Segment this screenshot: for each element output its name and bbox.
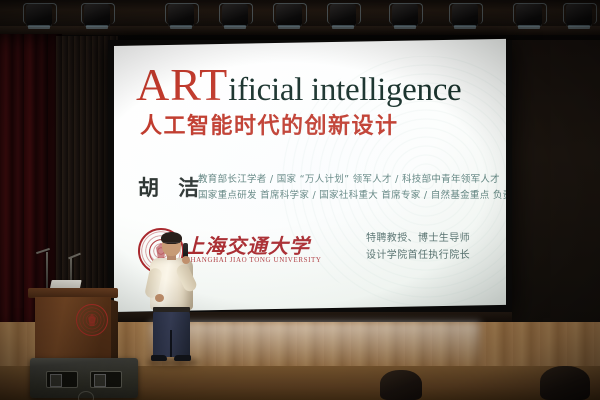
stage-light-icon <box>330 4 356 26</box>
slide-title: ARTificial intelligence <box>136 62 496 108</box>
credential-line: 国家重点研发 首席科学家 / 国家社科重大 首席专家 / 自然基金重点 负责人 <box>198 188 498 204</box>
stage-light-icon <box>26 4 52 26</box>
role-line: 设计学院首任执行院长 <box>366 247 470 264</box>
stage-light-icon <box>168 4 194 26</box>
presenter <box>146 234 198 362</box>
speaker-credentials: 教育部长江学者 / 国家 “万人计划” 领军人才 / 科技部中青年领军人才 国家… <box>198 172 498 203</box>
lectern <box>28 288 118 366</box>
university-name-cn: 上海交通大学 <box>184 230 310 259</box>
speaker-port <box>46 371 78 388</box>
microphone-stand-icon <box>46 252 48 290</box>
audience-member <box>540 366 590 400</box>
stage-light-icon <box>222 4 248 26</box>
presenter-shoe <box>151 355 167 361</box>
presenter-belt <box>153 307 190 312</box>
glasses-icon <box>163 242 180 247</box>
university-seal-icon <box>76 304 108 336</box>
presenter-hand <box>155 294 164 302</box>
lecture-hall-photo: ARTificial intelligence 人工智能时代的创新设计 胡 洁 … <box>0 0 600 400</box>
speaker-roles: 特聘教授、博士生导师 设计学院首任执行院长 <box>366 230 470 264</box>
presenter-shoe <box>174 355 191 361</box>
presenter-leg-gap <box>170 330 172 357</box>
credential-line: 教育部长江学者 / 国家 “万人计划” 领军人才 / 科技部中青年领军人才 <box>198 172 498 188</box>
audience-member <box>380 370 422 400</box>
role-line: 特聘教授、博士生导师 <box>366 230 470 247</box>
slide-title-highlight: ART <box>136 59 228 110</box>
slide-title-rest: ificial intelligence <box>228 72 461 108</box>
stage-light-icon <box>452 4 478 26</box>
stage-monitor-speaker <box>30 358 138 398</box>
presenter-hand <box>182 256 190 264</box>
university-name-en: SHANGHAI JIAO TONG UNIVERSITY <box>186 256 322 264</box>
stage-light-icon <box>516 4 542 26</box>
stage-light-icon <box>276 4 302 26</box>
stage-light-icon <box>566 4 592 26</box>
speaker-port <box>90 371 122 388</box>
speaker-name: 胡 洁 <box>138 172 205 202</box>
speaker-badge <box>78 391 94 400</box>
slide-subtitle: 人工智能时代的创新设计 <box>140 108 399 140</box>
stage-light-icon <box>84 4 110 26</box>
stage-light-icon <box>392 4 418 26</box>
